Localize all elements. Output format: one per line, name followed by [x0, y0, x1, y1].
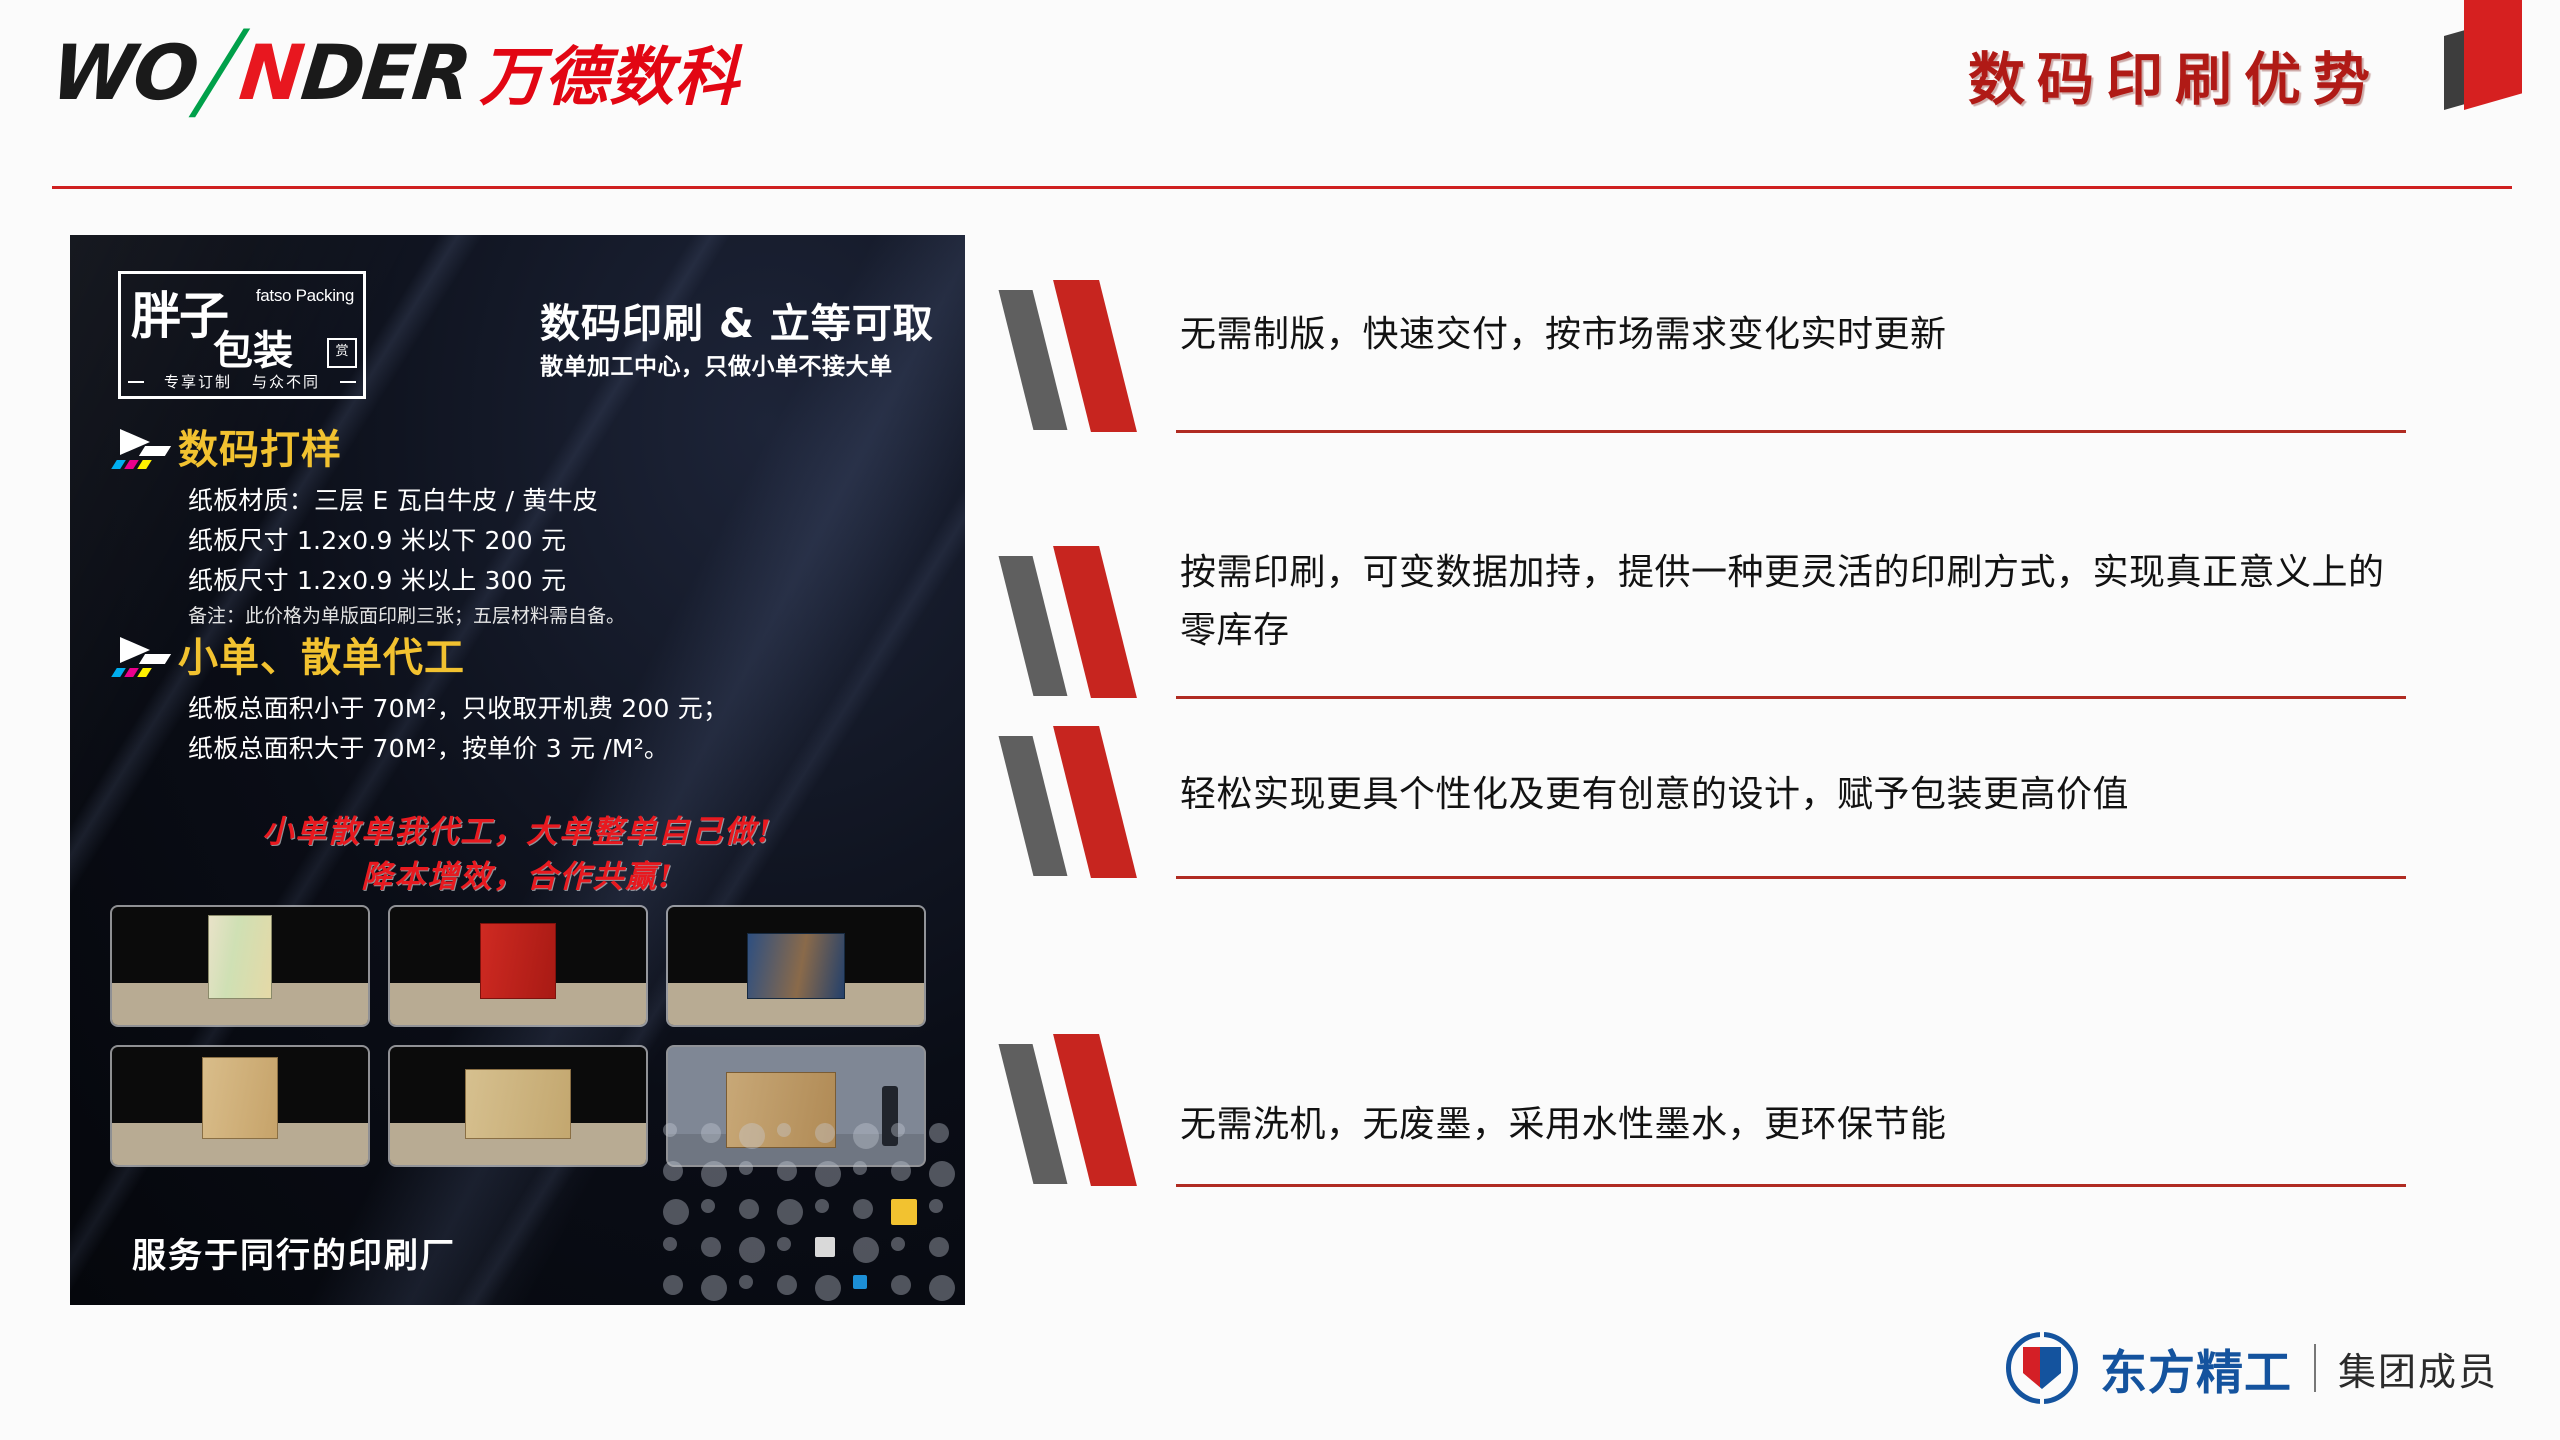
poster-subheadline: 散单加工中心，只做小单不接大单 [540, 347, 893, 381]
emblem-tick-top [2040, 1332, 2044, 1342]
section-line: 纸板材质：三层 E 瓦白牛皮 / 黄牛皮 [70, 481, 965, 521]
pattern-dot [701, 1275, 727, 1301]
bullet-marker-icon [1010, 546, 1170, 696]
pattern-dot [701, 1199, 715, 1213]
bullet-underline [1176, 696, 2406, 699]
product-photo [390, 907, 646, 1025]
bullet-text: 按需印刷，可变数据加持，提供一种更灵活的印刷方式，实现真正意义上的零库存 [1180, 544, 2410, 660]
poster-footer-text: 服务于同行的印刷厂 [132, 1228, 456, 1277]
pattern-dot [929, 1275, 955, 1301]
slogan-line-1: 小单散单我代工，大单整单自己做! [70, 810, 965, 855]
bullet-marker-gray [999, 1044, 1068, 1184]
pattern-dot [891, 1275, 911, 1295]
poster-section-small-orders: 小单、散单代工 纸板总面积小于 70M²，只收取开机费 200 元； 纸板总面积… [70, 633, 965, 769]
product-photo [668, 907, 924, 1025]
pattern-dot [891, 1123, 905, 1137]
list-item: 无需洗机，无废墨，采用水性墨水，更环保节能 [1010, 1014, 2490, 1262]
poster-image-panel: 胖子 fatso Packing 包装 赏 专享订制 与众不同 数码印刷 & 立… [70, 235, 965, 1305]
arrow-dot-yellow [137, 460, 152, 469]
section-title: 数码打样 [178, 425, 965, 475]
pattern-dot [777, 1161, 797, 1181]
pattern-dot [815, 1199, 829, 1213]
wordmark-post: DER [297, 28, 474, 117]
fatso-logo-en: fatso Packing [256, 286, 354, 306]
pattern-dot [891, 1237, 905, 1251]
pattern-dot [777, 1237, 791, 1251]
pattern-dot [777, 1199, 803, 1225]
slogan-line-2: 降本增效，合作共赢! [70, 855, 965, 900]
pattern-dot [853, 1161, 867, 1175]
arrow-tail-shape [139, 654, 171, 664]
bullet-marker-red [1053, 546, 1137, 698]
pattern-dot [663, 1237, 677, 1251]
pattern-dot [701, 1161, 727, 1187]
poster-section-digital-proofing: 数码打样 纸板材质：三层 E 瓦白牛皮 / 黄牛皮 纸板尺寸 1.2x0.9 米… [70, 425, 965, 631]
pattern-dot [853, 1237, 879, 1263]
section-line: 纸板总面积小于 70M²，只收取开机费 200 元； [70, 689, 965, 729]
pattern-dot [739, 1237, 765, 1263]
section-heading-row: 数码打样 [70, 425, 965, 481]
list-item: 无需制版，快速交付，按市场需求变化实时更新 [1010, 270, 2490, 518]
pattern-dot [663, 1199, 689, 1225]
advantages-list: 无需制版，快速交付，按市场需求变化实时更新 按需印刷，可变数据加持，提供一种更灵… [1010, 270, 2490, 1262]
product-photo [112, 1047, 368, 1165]
pattern-dot [891, 1161, 911, 1181]
fatso-tagline-row: 专享订制 与众不同 [121, 371, 363, 392]
section-heading-row: 小单、散单代工 [70, 633, 965, 689]
product-photo [390, 1047, 646, 1165]
fatso-tagline-left: 专享订制 [164, 371, 232, 392]
pattern-dot [853, 1123, 879, 1149]
section-line: 纸板尺寸 1.2x0.9 米以上 300 元 [70, 561, 965, 601]
pattern-dot [815, 1123, 835, 1143]
pattern-dot [701, 1123, 721, 1143]
pattern-dot [929, 1237, 949, 1257]
corner-decoration-icon [2436, 0, 2546, 110]
arrow-bullet-icon [112, 429, 172, 475]
fatso-seal-icon: 赏 [327, 338, 357, 368]
bullet-marker-gray [999, 736, 1068, 876]
pattern-dot [663, 1275, 683, 1295]
pattern-dot [929, 1161, 955, 1187]
pattern-dot [739, 1275, 753, 1289]
poster-slogan: 小单散单我代工，大单整单自己做! 降本增效，合作共赢! [70, 810, 965, 900]
pattern-dot [777, 1275, 797, 1295]
pattern-dot [739, 1199, 759, 1219]
pattern-dot [663, 1161, 683, 1181]
pattern-dot [853, 1199, 873, 1219]
section-note: 备注：此价格为单版面印刷三张；五层材料需自备。 [70, 601, 965, 631]
product-photo [112, 907, 368, 1025]
bullet-marker-gray [999, 290, 1068, 430]
dongfang-emblem-icon [2006, 1332, 2078, 1404]
fatso-packing-logo: 胖子 fatso Packing 包装 赏 专享订制 与众不同 [118, 271, 366, 399]
section-line: 纸板总面积大于 70M²，按单价 3 元 /M²。 [70, 729, 965, 769]
pattern-dot [929, 1199, 943, 1213]
footer-separator [2314, 1344, 2316, 1392]
emblem-tick-bottom [2040, 1394, 2044, 1404]
poster-headline: 数码印刷 & 立等可取 [540, 291, 934, 349]
pattern-dot [891, 1199, 917, 1225]
dot-pattern-decoration [635, 1105, 965, 1305]
bullet-marker-red [1053, 726, 1137, 878]
pattern-dot [815, 1161, 841, 1187]
wonder-brand-logo: WO╱NDER 万德数科 [52, 36, 739, 110]
bullet-marker-red [1053, 280, 1137, 432]
fatso-tagline-right: 与众不同 [252, 371, 320, 392]
bullet-marker-icon [1010, 726, 1170, 876]
bullet-text: 无需制版，快速交付，按市场需求变化实时更新 [1180, 306, 2410, 364]
pattern-dot [815, 1275, 841, 1301]
corner-dark-shape [2444, 30, 2466, 110]
bullet-underline [1176, 1184, 2406, 1187]
wordmark-pre: WO [47, 28, 201, 117]
bullet-underline [1176, 876, 2406, 879]
wordmark-n-red: N [236, 28, 307, 117]
poster-header: 胖子 fatso Packing 包装 赏 专享订制 与众不同 数码印刷 & 立… [70, 255, 965, 415]
section-title: 小单、散单代工 [178, 633, 965, 683]
page-title: 数码印刷优势 [1968, 34, 2382, 116]
pattern-dot [853, 1275, 867, 1289]
bullet-text: 无需洗机，无废墨，采用水性墨水，更环保节能 [1180, 1096, 2410, 1154]
pattern-dot [739, 1161, 753, 1175]
footer-member-label: 集团成员 [2338, 1341, 2498, 1396]
wonder-wordmark: WO╱NDER [48, 36, 473, 110]
list-item: 轻松实现更具个性化及更有创意的设计，赋予包装更高价值 [1010, 766, 2490, 1014]
bullet-underline [1176, 430, 2406, 433]
arrow-dot-yellow [137, 668, 152, 677]
pattern-dot [815, 1237, 835, 1257]
pattern-dot [663, 1123, 677, 1137]
fatso-logo-cn-sub: 包装 [213, 330, 293, 372]
corner-red-shape [2464, 0, 2522, 110]
bullet-marker-icon [1010, 1034, 1170, 1184]
pattern-dot [929, 1123, 949, 1143]
tagline-dash-right [340, 381, 356, 383]
pattern-dot [701, 1237, 721, 1257]
brand-chinese-name: 万德数科 [479, 41, 739, 115]
slide-header: WO╱NDER 万德数科 数码印刷优势 [0, 0, 2560, 190]
pattern-dot [777, 1123, 791, 1137]
pattern-dot [739, 1123, 765, 1149]
bullet-marker-red [1053, 1034, 1137, 1186]
bullet-text: 轻松实现更具个性化及更有创意的设计，赋予包装更高价值 [1180, 766, 2410, 824]
tagline-dash-left [128, 381, 144, 383]
bullet-marker-gray [999, 556, 1068, 696]
section-line: 纸板尺寸 1.2x0.9 米以下 200 元 [70, 521, 965, 561]
emblem-shield-shape [2023, 1347, 2061, 1389]
footer-brand-name: 东方精工 [2100, 1334, 2292, 1403]
header-divider [52, 186, 2512, 189]
bullet-marker-icon [1010, 280, 1170, 430]
group-member-logo: 东方精工 集团成员 [2006, 1330, 2498, 1406]
list-item: 按需印刷，可变数据加持，提供一种更灵活的印刷方式，实现真正意义上的零库存 [1010, 518, 2490, 766]
arrow-bullet-icon [112, 637, 172, 683]
arrow-tail-shape [139, 446, 171, 456]
